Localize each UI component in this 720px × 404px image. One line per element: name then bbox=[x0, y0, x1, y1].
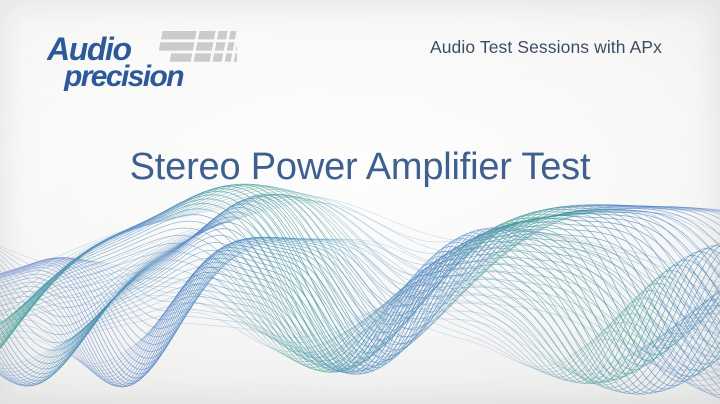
wave-line bbox=[0, 188, 720, 315]
wave-line bbox=[0, 251, 720, 394]
wave-line bbox=[0, 236, 720, 284]
wave-line bbox=[0, 231, 720, 311]
slide-title: Stereo Power Amplifier Test bbox=[0, 146, 720, 189]
wave-line bbox=[0, 257, 720, 387]
wave-line bbox=[0, 234, 720, 292]
wave-line bbox=[0, 242, 720, 385]
wave-line bbox=[0, 196, 720, 308]
wave-line bbox=[0, 212, 720, 389]
wave-line bbox=[0, 260, 720, 390]
wave-line bbox=[0, 194, 720, 348]
wave-line bbox=[0, 221, 720, 388]
wave-line bbox=[0, 198, 720, 370]
wave-line bbox=[0, 233, 720, 302]
wave-line bbox=[0, 294, 720, 379]
equalizer-grid-mark bbox=[157, 31, 237, 62]
wave-line bbox=[0, 305, 720, 376]
wave-line bbox=[0, 201, 720, 377]
wave-ribbon-ribbon-lower bbox=[0, 194, 720, 394]
wave-line bbox=[0, 235, 720, 394]
wave-line bbox=[0, 286, 720, 375]
wave-line bbox=[0, 185, 720, 330]
wave-line bbox=[0, 222, 720, 393]
logo-text-precision: precision bbox=[63, 60, 184, 91]
wave-line bbox=[0, 204, 720, 372]
wave-line bbox=[0, 235, 720, 398]
title-slide: Audio precision Audio Test Sessions with… bbox=[0, 0, 720, 404]
wave-line bbox=[0, 312, 720, 380]
wave-line bbox=[0, 184, 720, 340]
wave-line bbox=[0, 227, 720, 344]
wave-line bbox=[0, 194, 720, 326]
wave-line bbox=[0, 200, 720, 277]
wave-line bbox=[0, 243, 720, 394]
wave-line bbox=[0, 227, 720, 351]
wave-line bbox=[0, 228, 720, 395]
wave-line bbox=[0, 187, 720, 352]
wave-line bbox=[0, 267, 720, 388]
wave-line bbox=[0, 303, 720, 375]
wave-line bbox=[0, 228, 720, 337]
wave-line bbox=[0, 277, 720, 380]
wave-line bbox=[0, 202, 720, 267]
logo-wordmark: Audio precision bbox=[47, 29, 237, 91]
wave-line bbox=[0, 258, 720, 390]
wave-line bbox=[0, 215, 720, 379]
wave-line bbox=[0, 227, 720, 358]
wave-line bbox=[0, 247, 720, 387]
wave-line bbox=[0, 282, 720, 380]
wave-line bbox=[0, 208, 720, 386]
audio-precision-logo: Audio precision bbox=[47, 29, 237, 91]
wave-line bbox=[0, 196, 720, 277]
wave-line bbox=[0, 194, 720, 287]
wave-line bbox=[0, 320, 720, 383]
wave-line bbox=[0, 190, 720, 307]
wave-line bbox=[0, 275, 720, 382]
wave-line bbox=[0, 186, 720, 323]
wave-line bbox=[0, 197, 720, 297]
wave-line bbox=[0, 204, 720, 382]
wave-line bbox=[0, 269, 720, 385]
wave-line bbox=[0, 231, 720, 375]
wave-line bbox=[0, 243, 720, 397]
wave-line bbox=[0, 289, 720, 377]
wave-line bbox=[0, 196, 720, 364]
wave-line bbox=[0, 284, 720, 381]
wave-line bbox=[0, 230, 720, 320]
wave-line bbox=[0, 199, 720, 369]
wave-line bbox=[0, 228, 720, 364]
wave-line bbox=[0, 217, 720, 392]
wave-line bbox=[0, 184, 720, 335]
wave-line bbox=[0, 295, 720, 370]
wave-line bbox=[0, 239, 720, 384]
wave-line bbox=[0, 235, 720, 381]
wave-line bbox=[0, 233, 720, 378]
wave-line bbox=[0, 195, 720, 357]
wave-line bbox=[0, 229, 720, 369]
wave-line bbox=[0, 195, 720, 366]
wave-line bbox=[0, 189, 720, 357]
wave-line bbox=[0, 229, 720, 395]
wave-line bbox=[0, 229, 720, 329]
wave-line bbox=[0, 199, 720, 288]
wave-line bbox=[0, 297, 720, 375]
wave-line bbox=[0, 194, 720, 337]
wave-line bbox=[0, 269, 720, 386]
wave-line bbox=[0, 195, 720, 317]
wave-line bbox=[0, 185, 720, 347]
wave-line bbox=[0, 250, 720, 392]
session-series-label: Audio Test Sessions with APx bbox=[430, 37, 662, 58]
wave-ribbon-ribbon-crest bbox=[0, 227, 720, 387]
wave-line bbox=[0, 192, 720, 297]
wave-line bbox=[0, 251, 720, 387]
wave-line bbox=[0, 191, 720, 362]
wave-line bbox=[0, 276, 720, 386]
wave-line bbox=[0, 184, 720, 344]
wave-line bbox=[0, 262, 720, 385]
wave-ribbon-ribbon-upper bbox=[0, 184, 720, 398]
wave-line bbox=[0, 312, 720, 371]
wave-line bbox=[0, 209, 720, 372]
